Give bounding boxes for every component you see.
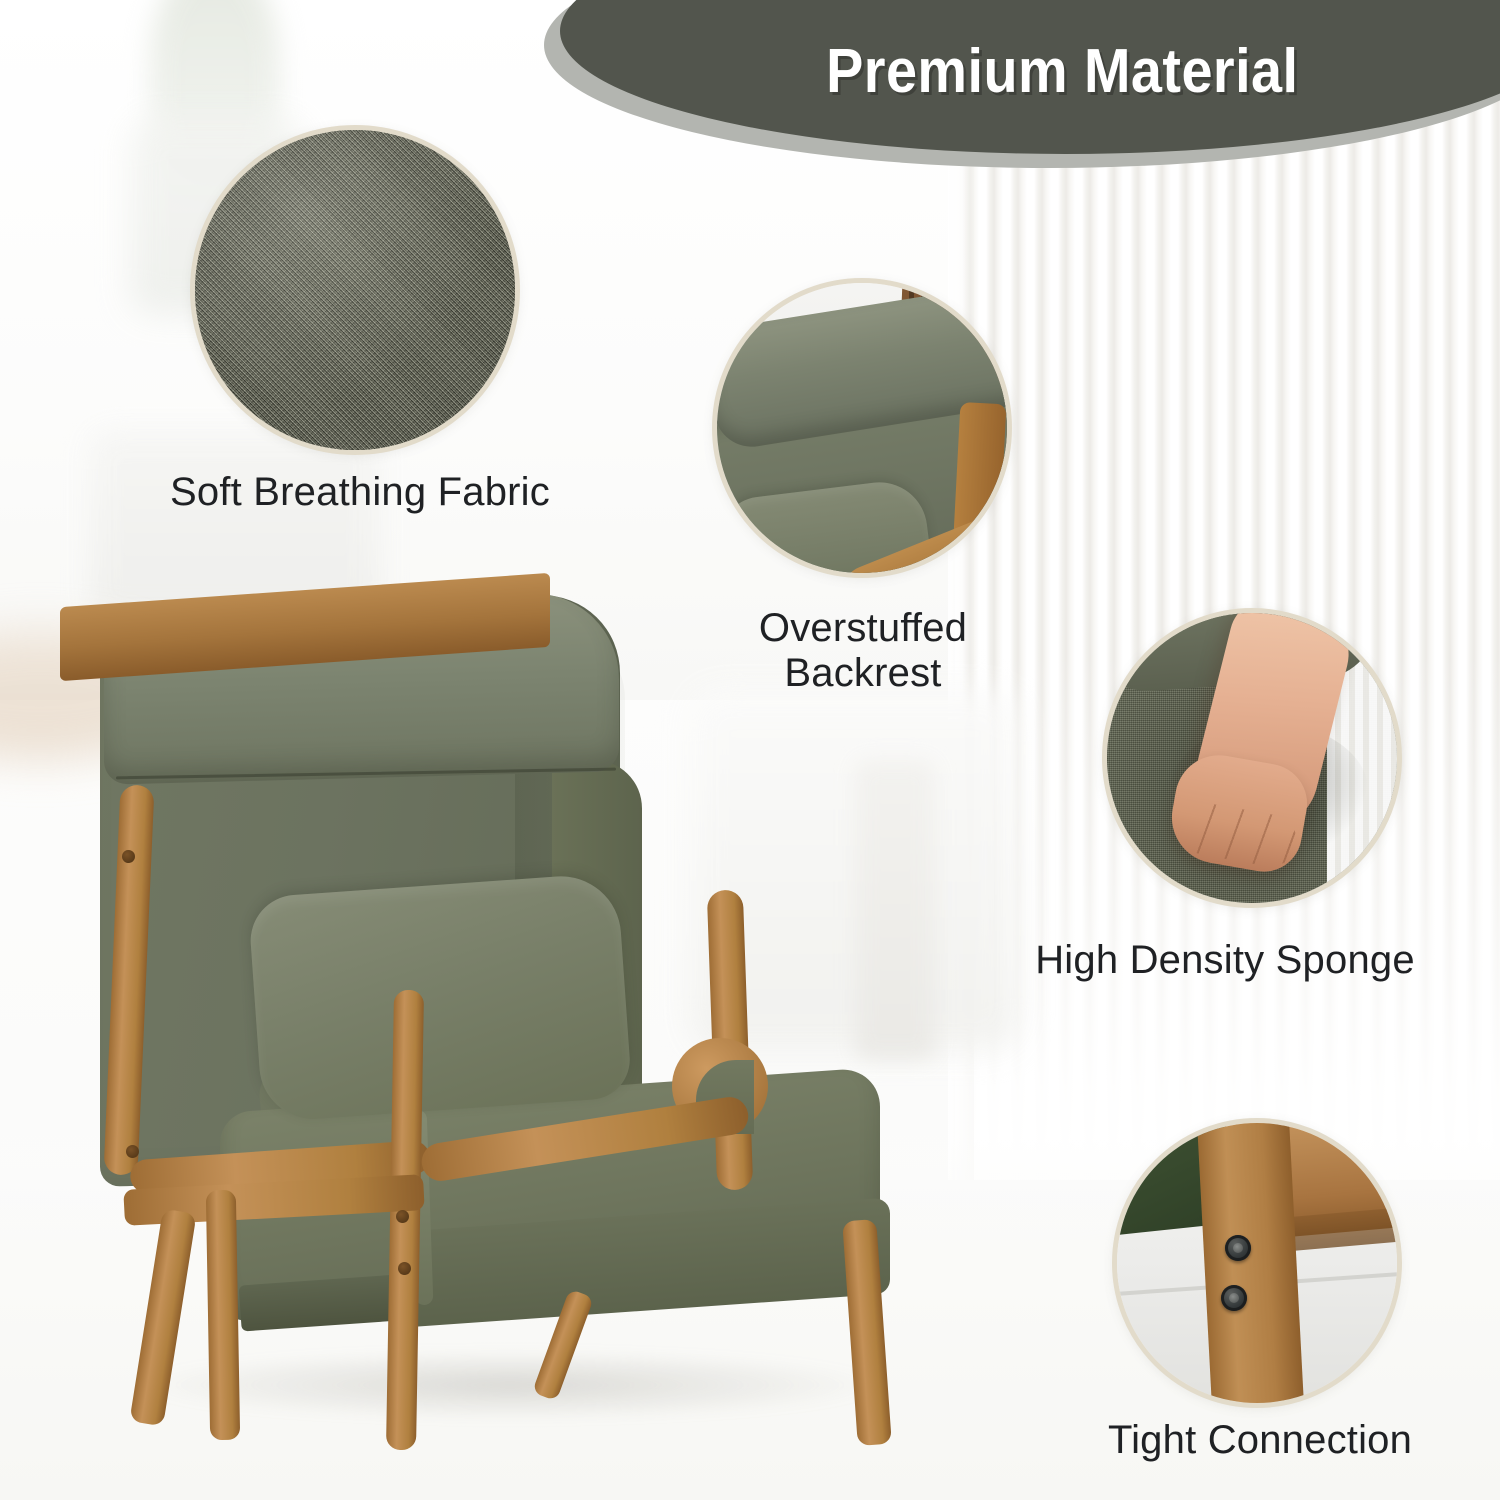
header-banner: Premium Material [560,0,1500,154]
frame-screw-icon [398,1262,411,1275]
callout-caption-fabric: Soft Breathing Fabric [60,470,660,515]
fabric-swatch-circle [190,125,520,455]
backrest-closeup-circle [712,278,1012,578]
fabric-swatch-sheen [195,130,515,450]
joint-wood-leg [1196,1118,1306,1408]
product-armchair [60,590,960,1470]
chair-underside-fabric [239,1274,402,1331]
callout-caption-sponge: High Density Sponge [960,938,1490,983]
sponge-closeup-circle [1102,608,1402,908]
frame-screw-icon [126,1145,139,1158]
callout-caption-connection: Tight Connection [1010,1418,1500,1463]
chair-floor-shadow [130,1350,890,1420]
callout-caption-backrest: Overstuffed Backrest [668,606,1058,696]
bolt-icon [1225,1235,1251,1261]
frame-screw-icon [396,1210,409,1223]
chair-back-left-leg [206,1190,240,1440]
fluted-wall-fade [955,0,1500,1180]
bolt-icon [1221,1285,1247,1311]
joint-closeup-circle [1112,1118,1402,1408]
chair-lumbar-pillow [248,872,633,1122]
infographic-canvas: Soft Breathing Fabric Overstuffed Backre… [0,0,1500,1500]
frame-screw-icon [122,850,135,863]
banner-title: Premium Material [611,36,1500,107]
